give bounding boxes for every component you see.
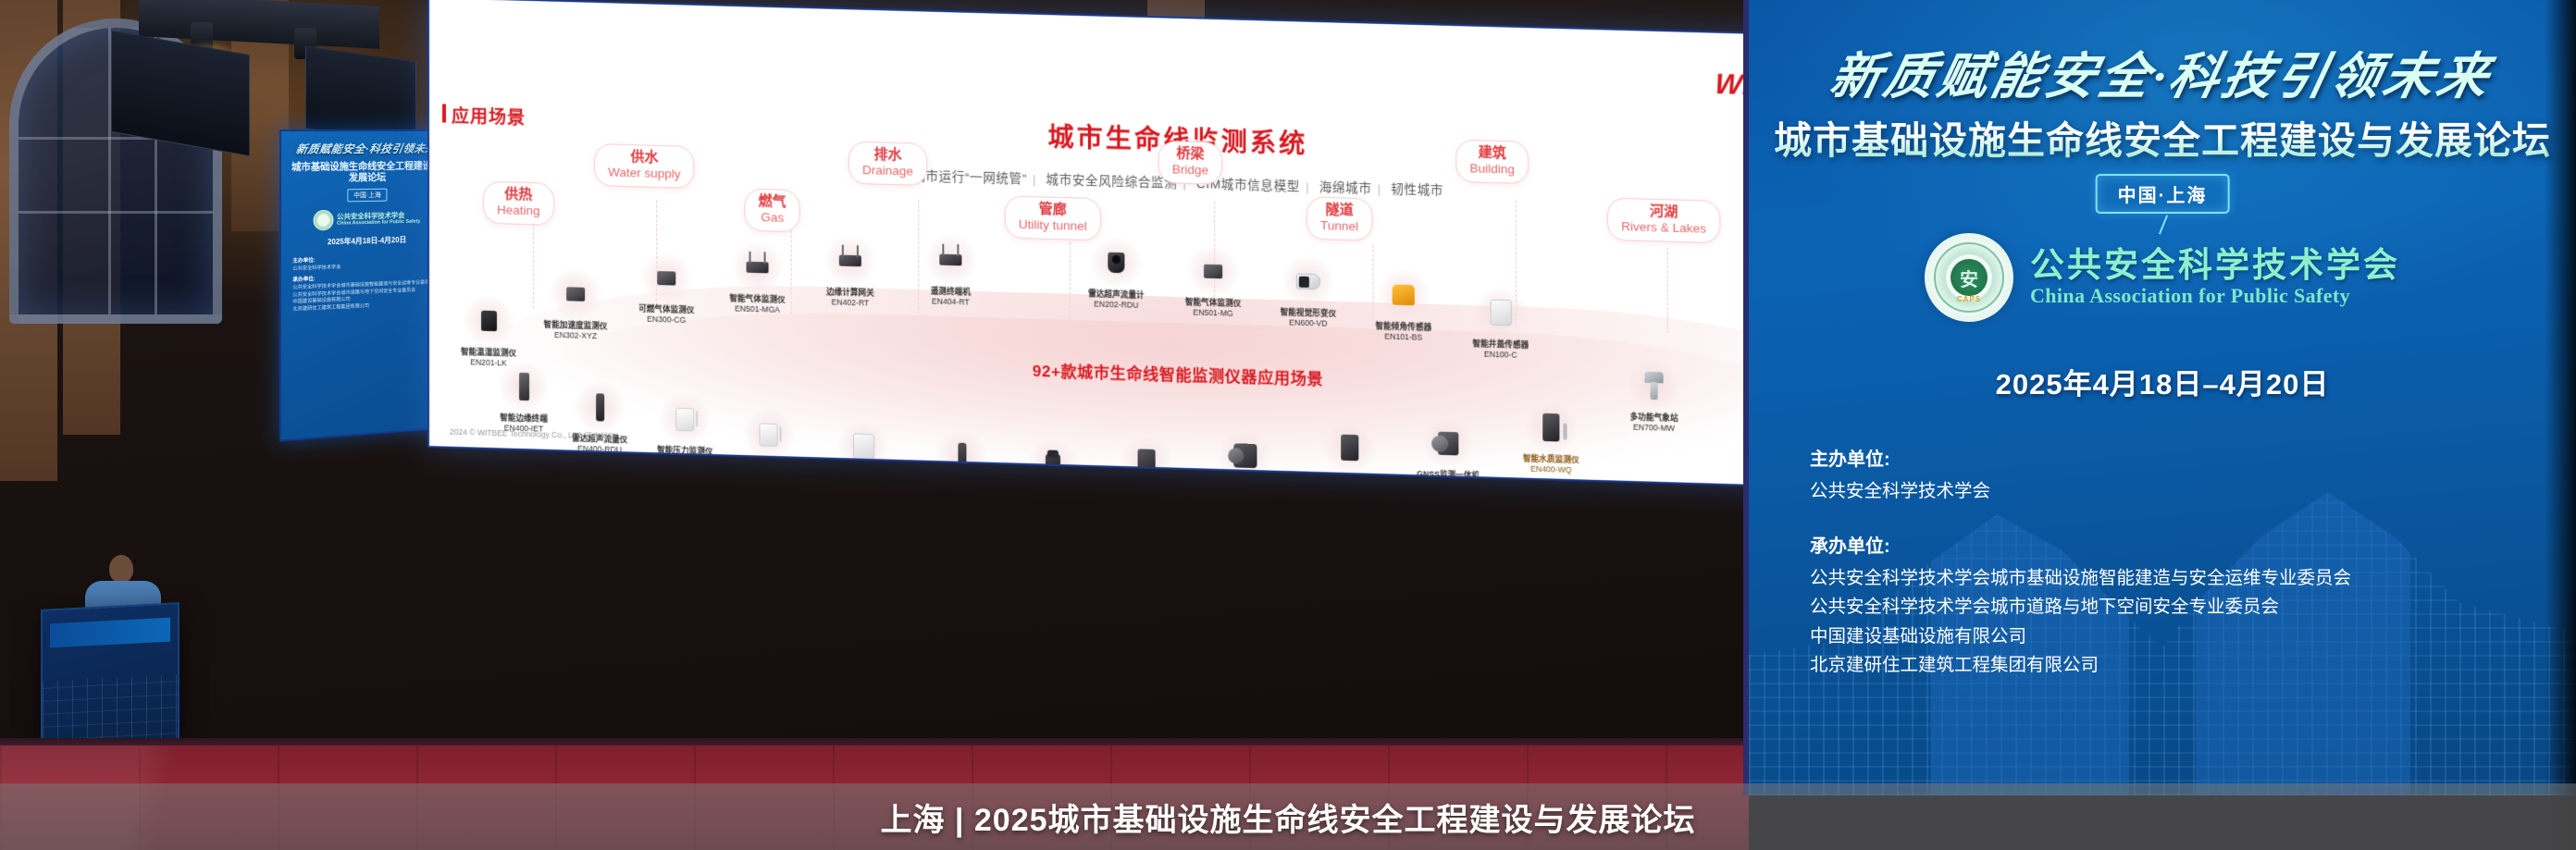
bubble-heating[interactable]: 供热 Heating (483, 181, 554, 226)
device-item[interactable]: 智能气体监测仪 EN501-MGA (707, 240, 807, 316)
banner-title: 城市基础设施生命线安全工程建设与发展论坛 (1749, 109, 2576, 165)
device-halo (1377, 267, 1431, 323)
water-quality-monitor-icon (1542, 413, 1559, 442)
device-halo (1186, 243, 1240, 299)
gnss-monitor-icon (1438, 431, 1458, 455)
device-halo (730, 240, 784, 295)
bubble-label-cn: 建筑 (1469, 145, 1515, 162)
banner-association-en: China Association for Public Safety (2030, 284, 2400, 308)
bubble-label-cn: 燃气 (759, 194, 786, 211)
stage-poster-association-en: China Association for Public Safety (337, 219, 420, 228)
stage-photo: 新质赋能安全·科技引领未来 城市基础设施生命线安全工程建设与发展论坛 中国·上海… (0, 0, 2576, 850)
edge-gateway-icon (839, 255, 861, 267)
device-item[interactable]: 智能水质监测仪 EN400-WQ (1501, 399, 1602, 475)
bubble-label-en: Tunnel (1320, 218, 1358, 234)
telemetry-terminal-icon (852, 433, 873, 460)
caps-seal-icon (313, 210, 333, 231)
slide: WITBEE 万宾 应用场景 城市生命线监测系统 城市运行“一网统管”| 城市安… (427, 0, 1933, 492)
device-halo (824, 233, 877, 289)
caption-bar: 上海 | 2025城市基础设施生命线安全工程建设与发展论坛 (0, 783, 2576, 850)
stage-poster-host: 公共安全科学技术学会 (292, 265, 341, 272)
bubble-label-cn: 供水 (608, 149, 680, 166)
gas-monitor-icon (1204, 264, 1222, 278)
projection-screen: WITBEE 万宾 应用场景 城市生命线监测系统 城市运行“一网统管”| 城市安… (427, 0, 1933, 492)
device-item[interactable]: 可燃气体监测仪 EN300-CG (616, 250, 716, 326)
device-halo (1627, 358, 1681, 413)
radar-flow-meter-icon (596, 393, 604, 421)
telemetry-terminal-icon (939, 254, 961, 266)
bubble-drainage[interactable]: 排水 Drainage (848, 142, 927, 186)
device-item[interactable]: 智能井盖传感器 EN100-C (1450, 284, 1551, 361)
bubble-label-en: Gas (759, 210, 786, 226)
seal-abbreviation: CAPS (1927, 295, 2011, 303)
bubble-label-cn: 管廊 (1019, 202, 1087, 219)
stage-poster-orgs: 主办单位: 公共安全科学技术学会 承办单位: 公共安全科学技术学会城市基础设施智… (289, 253, 442, 314)
accelerometer-icon (566, 287, 585, 302)
stage-poster-title: 城市基础设施生命线安全工程建设与发展论坛 (289, 160, 442, 184)
weather-station-icon (1643, 372, 1664, 400)
slide-subtitle-part-5: 韧性城市 (1385, 182, 1449, 198)
banner-association: 安 CAPS 公共安全科学技术学会 China Association for … (1797, 233, 2528, 322)
bubble-tunnel[interactable]: 隧道 Tunnel (1307, 196, 1372, 240)
bubble-bridge[interactable]: 桥梁 Bridge (1158, 141, 1223, 185)
bubble-label-en: Building (1469, 161, 1515, 177)
banner-organizer-2: 公共安全科学技术学会城市道路与地下空间安全专业委员会 (1810, 593, 2539, 622)
device-item[interactable]: 智能视觉形变仪 EN600-VD (1257, 253, 1358, 329)
bubble-label-cn: 供热 (497, 187, 540, 203)
banner-host: 公共安全科学技术学会 (1810, 477, 2539, 507)
podium-banner (50, 618, 170, 648)
banner-association-cn: 公共安全科学技术学会 (2030, 247, 2400, 285)
device-item[interactable]: 雷达超声流量计 EN202-RDU (1066, 234, 1167, 311)
bubble-building[interactable]: 建筑 Building (1455, 140, 1529, 184)
bubble-label-en: Bridge (1172, 162, 1208, 178)
banner-organizations: 主办单位: 公共安全科学技术学会 承办单位: 公共安全科学技术学会城市基础设施智… (1810, 444, 2539, 681)
device-item[interactable]: 遥测终端机 EN404-RT (900, 231, 1001, 308)
caps-seal-icon: 安 CAPS (1925, 233, 2013, 322)
speaker-head (109, 555, 133, 583)
device-halo (1282, 253, 1335, 309)
stage-poster-host-label: 主办单位: (292, 253, 440, 266)
device-item[interactable]: 智能倾角传感器 EN101-BS (1353, 266, 1454, 343)
stage-poster-association: 公共安全科学技术学会 China Association for Public … (289, 207, 442, 231)
structural-monitor-icon (1341, 435, 1358, 462)
bubble-label-cn: 隧道 (1320, 203, 1358, 219)
bubble-rivers-lakes[interactable]: 河湖 Rivers & Lakes (1607, 198, 1720, 243)
device-halo (923, 232, 977, 288)
pressure-monitor-icon (675, 407, 694, 431)
banner-calligraphy: 新质赋能安全·科技引领未来 (1743, 35, 2576, 108)
edge-terminal-icon (519, 373, 529, 400)
device-halo (497, 359, 551, 414)
device-halo (658, 391, 712, 447)
bubble-label-en: Heating (497, 203, 540, 218)
banner-organizer-1: 公共安全科学技术学会城市基础设施智能建造与安全运维专业委员会 (1810, 564, 2539, 594)
banner-organizer-4: 北京建研住工建筑工程集团有限公司 (1810, 651, 2539, 681)
caption-text: 上海 | 2025城市基础设施生命线安全工程建设与发展论坛 (880, 795, 1695, 840)
gas-monitor-icon (746, 262, 768, 274)
bubble-label-en: Drainage (862, 163, 913, 179)
device-item[interactable]: 智能加速度监测仪 EN302-XYZ (526, 265, 625, 342)
device-halo (1089, 235, 1143, 290)
visual-deformation-camera-icon (1296, 273, 1320, 289)
stage-poster-date: 2025年4月18日-4月20日 (289, 234, 442, 249)
device-halo (639, 250, 693, 305)
slide-subtitle-part-4: 海绵城市 (1314, 180, 1378, 196)
separator: | (1033, 172, 1036, 186)
device-item[interactable]: 边缘计算网关 EN402-RT (800, 232, 900, 309)
temp-humidity-sensor-icon (481, 311, 497, 331)
separator: | (1306, 179, 1309, 193)
device-item[interactable]: 多功能气象站 EN700-MW (1604, 357, 1704, 434)
stage-poster-location-chip: 中国·上海 (347, 189, 387, 203)
device-halo (1473, 285, 1528, 340)
separator: | (1378, 182, 1381, 196)
device-halo (741, 407, 795, 462)
device-halo (549, 266, 602, 322)
stage-poster-calligraphy: 新质赋能安全·科技引领未来 (288, 141, 444, 157)
radar-ultrasonic-flowmeter-icon (1108, 253, 1124, 274)
banner-organizer-3: 中国建设基础设施有限公司 (1810, 622, 2539, 652)
banner-location-chip: 中国·上海 (2096, 174, 2230, 214)
bubble-label-en: Utility tunnel (1019, 217, 1087, 234)
banner-host-label: 主办单位: (1810, 444, 2539, 471)
tilt-sensor-icon (1393, 284, 1415, 305)
temperature-monitor-icon (760, 423, 778, 447)
device-item[interactable]: 智能气体监测仪 EN501-MG (1163, 242, 1264, 319)
manhole-cover-sensor-icon (1490, 300, 1511, 326)
structural-diagnostic-icon (1233, 443, 1257, 468)
device-halo (1421, 415, 1476, 471)
banner-date: 2025年4月18日–4月20日 (1749, 361, 2576, 402)
combustible-gas-detector-icon (657, 271, 675, 286)
edge-vignette (2545, 0, 2576, 850)
device-item[interactable]: 智能温湿监测仪 EN201-LK (439, 292, 539, 369)
conference-banner: 新质赋能安全·科技引领未来 城市基础设施生命线安全工程建设与发展论坛 中国·上海… (1743, 0, 2576, 795)
bubble-label-en: Rivers & Lakes (1621, 219, 1706, 237)
chip-pointer (2159, 215, 2168, 234)
bubble-label-en: Water supply (608, 165, 680, 181)
device-halo (1322, 420, 1377, 475)
bubble-utility-tunnel[interactable]: 管廊 Utility tunnel (1005, 195, 1101, 240)
arch-mullion (19, 211, 213, 214)
stage-poster-organizer-4: 北京建研住工建筑工程集团有限公司 (292, 303, 369, 313)
banner-organizer-label: 承办单位: (1810, 531, 2539, 558)
bubble-label-cn: 桥梁 (1172, 146, 1208, 163)
bubble-water-supply[interactable]: 供水 Water supply (594, 143, 694, 189)
bubble-label-cn: 排水 (862, 147, 913, 164)
bubble-gas[interactable]: 燃气 Gas (744, 189, 799, 232)
device-halo (462, 293, 515, 349)
device-halo (573, 380, 626, 436)
stage-poster: 新质赋能安全·科技引领未来 城市基础设施生命线安全工程建设与发展论坛 中国·上海… (279, 129, 452, 441)
device-halo (1524, 400, 1579, 455)
